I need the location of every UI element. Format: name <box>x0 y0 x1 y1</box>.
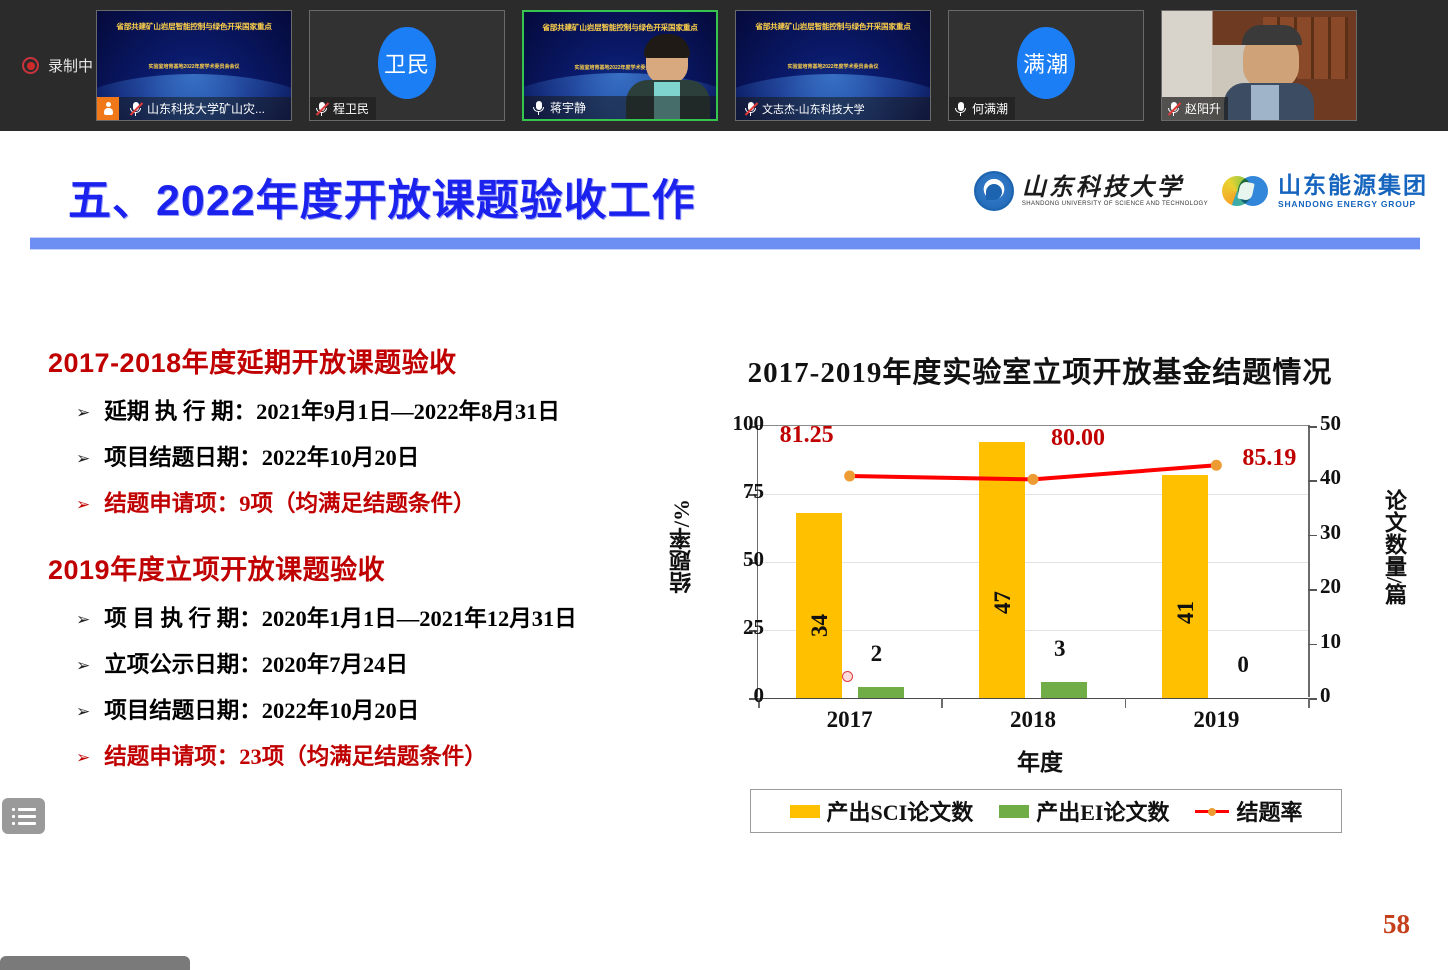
x-tick-label: 2019 <box>1156 707 1276 733</box>
bullet-list-2: ➢ 项 目 执 行 期：2020年1月1日—2021年12月31日 ➢ 立项公示… <box>48 601 668 771</box>
record-icon <box>22 57 39 74</box>
section-heading-1: 2017-2018年度延期开放课题验收 <box>48 341 668 380</box>
recording-label: 录制中 <box>48 55 93 76</box>
y-tick-right: 50 <box>1320 411 1380 436</box>
mic-muted-icon[interactable] <box>315 101 328 117</box>
title-divider <box>30 237 1420 250</box>
legend-swatch-icon <box>790 805 820 818</box>
list-item: ➢ 延期 执 行 期：2021年9月1日—2022年8月31日 <box>76 394 668 426</box>
host-person-icon <box>97 97 119 120</box>
sdust-logo: 山东科技大学 SHANDONG UNIVERSITY OF SCIENCE AN… <box>974 171 1208 211</box>
bar-ei <box>858 687 904 698</box>
y-tick-right: 30 <box>1320 520 1380 545</box>
bullet-arrow-icon: ➢ <box>76 657 90 674</box>
y-tick-right: 10 <box>1320 629 1380 654</box>
y-axis-right-line <box>1308 425 1310 697</box>
legend-label: 产出SCI论文数 <box>827 795 974 827</box>
sdust-name-cn: 山东科技大学 <box>1022 176 1208 200</box>
small-marker-icon <box>842 671 853 682</box>
participant-tile-6[interactable]: 赵阳升 <box>1161 10 1357 121</box>
bullet-arrow-icon: ➢ <box>76 450 90 467</box>
bar-value-ei: 2 <box>871 641 883 667</box>
participant-name: 文志杰-山东科技大学 <box>762 101 865 117</box>
shared-slide-subtitle: 实验室培育基地2022年度学术委员会会议 <box>101 63 287 71</box>
list-item: ➢ 结题申请项：23项（均满足结题条件） <box>76 739 668 771</box>
bar-sci <box>1162 475 1208 698</box>
bar-value-ei: 3 <box>1054 636 1066 662</box>
x-tick-label: 2017 <box>790 707 910 733</box>
y-tick-left: 0 <box>704 683 764 708</box>
mic-icon[interactable] <box>954 101 967 117</box>
list-item: ➢ 项 目 执 行 期：2020年1月1日—2021年12月31日 <box>76 601 668 633</box>
bar-value-ei: 0 <box>1237 652 1249 678</box>
bullet-text: 立项公示日期：2020年7月24日 <box>104 647 408 679</box>
legend-item-rate: 结题率 <box>1195 795 1302 827</box>
tick-mark <box>1308 426 1317 428</box>
participant-tile-5[interactable]: 满潮 何满潮 <box>948 10 1144 121</box>
bar-value-sci: 34 <box>807 614 833 637</box>
bullet-text: 结题申请项：23项（均满足结题条件） <box>104 739 487 771</box>
menu-list-icon[interactable] <box>2 798 45 834</box>
sdust-name-en: SHANDONG UNIVERSITY OF SCIENCE AND TECHN… <box>1022 201 1208 207</box>
page-number: 58 <box>1383 909 1410 940</box>
tick-mark <box>1308 535 1317 537</box>
x-tick-label: 2018 <box>973 707 1093 733</box>
participant-tile-2[interactable]: 卫民 程卫民 <box>309 10 505 121</box>
y-tick-left: 100 <box>704 411 764 436</box>
participant-name: 何满潮 <box>972 100 1008 117</box>
slide-text-column: 2017-2018年度延期开放课题验收 ➢ 延期 执 行 期：2021年9月1日… <box>48 341 668 801</box>
avatar: 卫民 <box>378 27 436 99</box>
x-tick-mark <box>1308 698 1310 708</box>
bottom-toolbar[interactable] <box>0 956 190 970</box>
tile-namebar: 文志杰-山东科技大学 <box>736 97 931 120</box>
energy-name-cn: 山东能源集团 <box>1278 174 1428 197</box>
list-item: ➢ 立项公示日期：2020年7月24日 <box>76 647 668 679</box>
energy-name-en: SHANDONG ENERGY GROUP <box>1278 199 1428 209</box>
recording-indicator: 录制中 <box>22 55 93 76</box>
shared-slide-title: 省部共建矿山岩层智能控制与绿色开采国家重点 <box>101 21 287 33</box>
shared-slide-title: 省部共建矿山岩层智能控制与绿色开采国家重点 <box>528 22 712 34</box>
list-item: ➢ 结题申请项：9项（均满足结题条件） <box>76 486 668 518</box>
meeting-video-strip: 录制中 省部共建矿山岩层智能控制与绿色开采国家重点 实验室培育基地2022年度学… <box>0 0 1448 131</box>
participant-tile-1[interactable]: 省部共建矿山岩层智能控制与绿色开采国家重点 实验室培育基地2022年度学术委员会… <box>96 10 292 121</box>
bar-sci <box>796 513 842 698</box>
legend-swatch-icon <box>999 805 1029 818</box>
participant-name: 程卫民 <box>333 100 369 117</box>
tick-mark <box>1308 644 1317 646</box>
tile-namebar: 山东科技大学矿山灾... <box>97 97 292 120</box>
x-axis-label: 年度 <box>660 743 1420 777</box>
tile-namebar: 蒋宇静 <box>524 96 718 119</box>
y-axis-label-left: 结题率/% <box>666 499 698 593</box>
y-tick-left: 25 <box>704 615 764 640</box>
combo-chart: 2017-2019年度实验室立项开放基金结题情况 结题率/% 论文数量/篇 34… <box>660 349 1420 949</box>
participant-name: 赵阳升 <box>1185 100 1221 117</box>
shared-slide-title: 省部共建矿山岩层智能控制与绿色开采国家重点 <box>740 21 926 33</box>
mic-icon[interactable] <box>532 100 545 116</box>
energy-group-mark-icon <box>1222 174 1270 208</box>
shandong-energy-logo: 山东能源集团 SHANDONG ENERGY GROUP <box>1222 174 1428 209</box>
sdust-seal-icon <box>974 171 1014 211</box>
section-heading-2: 2019年度立项开放课题验收 <box>48 548 668 587</box>
bullet-text: 项目结题日期：2022年10月20日 <box>104 440 419 472</box>
y-tick-right: 40 <box>1320 465 1380 490</box>
legend-line-icon <box>1195 805 1229 818</box>
tick-mark <box>1308 480 1317 482</box>
x-tick-mark <box>941 698 943 708</box>
participant-name: 蒋宇静 <box>550 99 586 116</box>
y-axis-label-right: 论文数量/篇 <box>1378 489 1410 605</box>
y-tick-left: 75 <box>704 479 764 504</box>
bar-ei <box>1041 682 1087 698</box>
mic-muted-icon[interactable] <box>1167 101 1180 117</box>
avatar: 满潮 <box>1017 27 1075 99</box>
x-tick-mark <box>1125 698 1127 708</box>
mic-muted-icon[interactable] <box>744 101 757 117</box>
participant-tile-4[interactable]: 省部共建矿山岩层智能控制与绿色开采国家重点 实验室培育基地2022年度学术委员会… <box>735 10 931 121</box>
bar-value-sci: 41 <box>1173 601 1199 624</box>
presentation-slide: 五、2022年度开放课题验收工作 山东科技大学 SHANDONG UNIVERS… <box>0 131 1448 970</box>
y-tick-right: 20 <box>1320 574 1380 599</box>
mic-muted-icon[interactable] <box>129 101 142 117</box>
bar-sci <box>979 442 1025 698</box>
bullet-text: 项目结题日期：2022年10月20日 <box>104 693 419 725</box>
legend-item-sci: 产出SCI论文数 <box>790 795 974 827</box>
bullet-arrow-icon: ➢ <box>76 496 90 513</box>
bar-value-sci: 47 <box>990 591 1016 614</box>
tile-namebar: 何满潮 <box>949 97 1015 120</box>
participant-name: 山东科技大学矿山灾... <box>147 100 265 117</box>
list-item: ➢ 项目结题日期：2022年10月20日 <box>76 440 668 472</box>
chart-title: 2017-2019年度实验室立项开放基金结题情况 <box>660 349 1420 391</box>
participant-tile-3[interactable]: 省部共建矿山岩层智能控制与绿色开采国家重点 实验室培育基地2022年度学术委员会… <box>522 10 718 121</box>
tile-namebar: 程卫民 <box>310 97 376 120</box>
logo-group: 山东科技大学 SHANDONG UNIVERSITY OF SCIENCE AN… <box>974 171 1428 211</box>
tile-namebar: 赵阳升 <box>1162 97 1228 120</box>
tick-mark <box>1308 589 1317 591</box>
gridline <box>758 494 1308 495</box>
shared-slide-subtitle: 实验室培育基地2022年度学术委员会会议 <box>740 63 926 71</box>
bullet-arrow-icon: ➢ <box>76 611 90 628</box>
bullet-text: 项 目 执 行 期：2020年1月1日—2021年12月31日 <box>104 601 577 633</box>
bullet-arrow-icon: ➢ <box>76 749 90 766</box>
chart-legend: 产出SCI论文数 产出EI论文数 结题率 <box>750 789 1342 833</box>
list-item: ➢ 项目结题日期：2022年10月20日 <box>76 693 668 725</box>
bullet-text: 结题申请项：9项（均满足结题条件） <box>104 486 475 518</box>
bullet-list-1: ➢ 延期 执 行 期：2021年9月1日—2022年8月31日 ➢ 项目结题日期… <box>48 394 668 518</box>
legend-item-ei: 产出EI论文数 <box>999 795 1169 827</box>
legend-label: 结题率 <box>1236 795 1302 827</box>
y-tick-right: 0 <box>1320 683 1380 708</box>
y-tick-left: 50 <box>704 547 764 572</box>
bullet-text: 延期 执 行 期：2021年9月1日—2022年8月31日 <box>104 394 560 426</box>
bullet-arrow-icon: ➢ <box>76 404 90 421</box>
legend-label: 产出EI论文数 <box>1036 795 1169 827</box>
page-title: 五、2022年度开放课题验收工作 <box>68 166 696 228</box>
plot-area: 342473410 <box>758 425 1308 699</box>
bullet-arrow-icon: ➢ <box>76 703 90 720</box>
